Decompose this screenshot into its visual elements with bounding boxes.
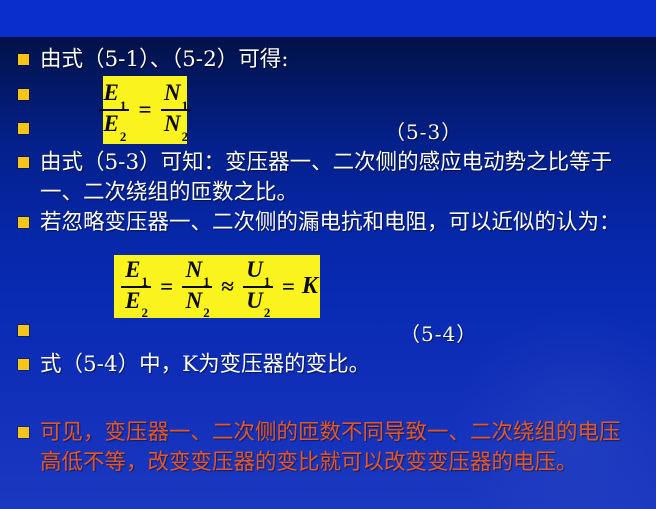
slide-body: 由式（5-1）、（5-2）可得: E1 E2 = N1 xyxy=(0,37,656,509)
equation-label-5-3: （5-3） xyxy=(385,116,462,145)
presentation-slide: 由式（5-1）、（5-2）可得: E1 E2 = N1 xyxy=(0,0,656,509)
numerator-e1: E1 xyxy=(122,258,150,285)
denominator-n2: N2 xyxy=(183,289,212,316)
fraction-u1-u2: U1 U2 xyxy=(243,258,273,316)
fraction-e1-e2: E1 E2 xyxy=(121,258,151,316)
list-item[interactable]: 由式（5-3）可知：变压器一、二次侧的感应电动势之比等于一、二次绕组的匝数之比。 xyxy=(18,148,638,208)
formula-5-3-expression: E1 E2 = N1 N2 xyxy=(94,81,195,139)
bullet-k-definition-label: 式（5-4）中，K为变压器的变比。 xyxy=(40,350,370,380)
formula-box-5-3: E1 E2 = N1 N2 xyxy=(103,76,187,144)
bullet-square-icon xyxy=(18,123,29,134)
equals-sign-2: = xyxy=(282,274,295,300)
slide-header-band xyxy=(0,0,656,38)
bullet-square-icon xyxy=(18,359,29,370)
bullet-square-icon xyxy=(18,89,29,100)
fraction-e1-e2: E1 E2 xyxy=(99,81,129,139)
fraction-n1-n2: N1 N2 xyxy=(161,81,191,139)
bullet-square-icon xyxy=(18,54,29,65)
list-item[interactable]: 式（5-4）中，K为变压器的变比。 xyxy=(18,350,638,380)
list-item[interactable]: 可见，变压器一、二次侧的匝数不同导致一、二次绕组的电压高低不等，改变变压器的变比… xyxy=(18,418,638,478)
fraction-n1-n2: N1 N2 xyxy=(182,258,212,316)
numerator-e1: E1 xyxy=(101,81,129,108)
bullet-square-icon xyxy=(18,157,29,168)
list-item[interactable] xyxy=(18,316,638,336)
numerator-u1: U1 xyxy=(243,258,272,285)
denominator-n2: N2 xyxy=(161,112,190,139)
equals-sign: = xyxy=(160,274,173,300)
bullet-square-icon xyxy=(18,325,29,336)
formula-box-5-4: E1 E2 = N1 N2 ≈ U1 U2 = K xyxy=(114,255,320,318)
variable-k: K xyxy=(302,273,318,300)
bullet-neglect-label: 若忽略变压器一、二次侧的漏电抗和电阻，可以近似的认为： xyxy=(40,208,621,238)
numerator-n1: N1 xyxy=(161,81,190,108)
denominator-e2: E2 xyxy=(101,112,129,139)
formula-5-4-expression: E1 E2 = N1 N2 ≈ U1 U2 = K xyxy=(116,258,318,316)
equation-label-5-4: （5-4） xyxy=(400,318,477,347)
equals-sign: = xyxy=(138,97,151,123)
list-item[interactable]: 由式（5-1）、（5-2）可得: xyxy=(18,45,638,75)
bullet-conclusion-label: 可见，变压器一、二次侧的匝数不同导致一、二次绕组的电压高低不等，改变变压器的变比… xyxy=(40,418,638,478)
bullet-square-icon xyxy=(18,217,29,228)
bullet-derive-from-label: 由式（5-1）、（5-2）可得: xyxy=(40,45,289,75)
numerator-n1: N1 xyxy=(183,258,212,285)
list-item[interactable]: 若忽略变压器一、二次侧的漏电抗和电阻，可以近似的认为： xyxy=(18,208,638,238)
denominator-e2: E2 xyxy=(122,289,150,316)
denominator-u2: U2 xyxy=(243,289,272,316)
bullet-square-icon xyxy=(18,427,29,438)
bullet-ratio-emf-label: 由式（5-3）可知：变压器一、二次侧的感应电动势之比等于一、二次绕组的匝数之比。 xyxy=(40,148,638,208)
approx-sign: ≈ xyxy=(221,274,234,300)
